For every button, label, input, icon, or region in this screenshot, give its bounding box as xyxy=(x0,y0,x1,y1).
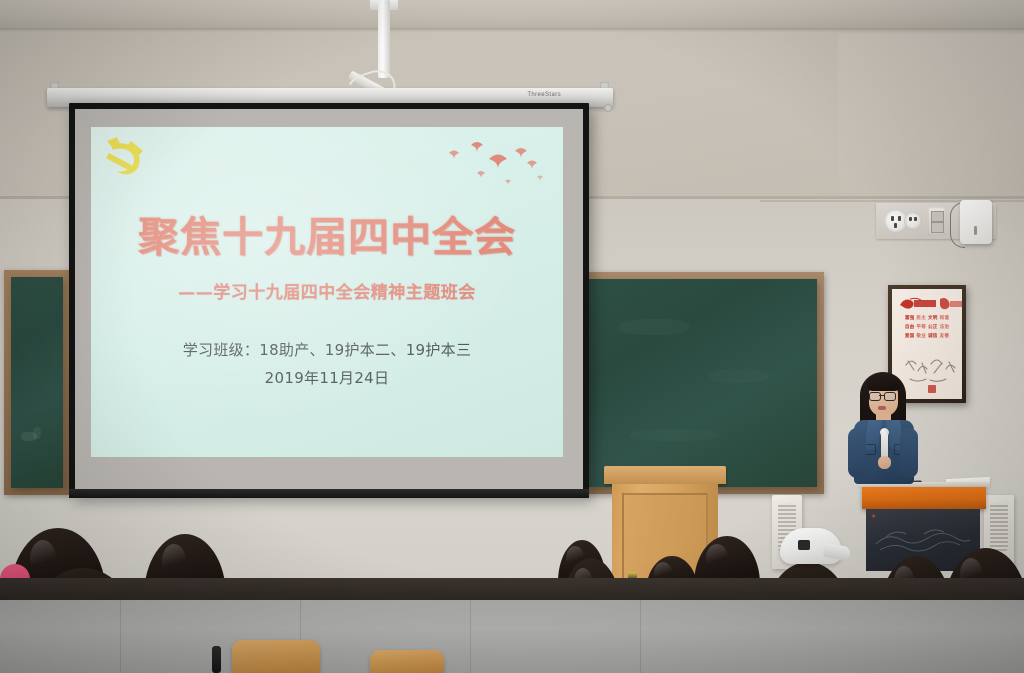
wooden-lectern-top xyxy=(604,466,726,484)
presenter-mouth xyxy=(878,406,886,410)
presenter-fringe xyxy=(867,376,900,391)
poster-values-row: 富强 民主 文明 和谐 xyxy=(896,315,958,321)
slide-title: 聚焦十九届四中全会 xyxy=(91,203,563,263)
slide-class-list: 学习班级：18助产、19护本二、19护本三 xyxy=(91,339,563,360)
poster-value: 敬业 xyxy=(916,333,926,339)
glasses-icon xyxy=(869,392,881,401)
speaker-grille-icon xyxy=(990,503,1008,551)
poster-value: 爱国 xyxy=(905,333,915,339)
student-presenter xyxy=(836,370,932,505)
poster-value: 和谐 xyxy=(940,315,950,321)
poster-value: 文明 xyxy=(928,315,938,321)
projection-screen-surface: 聚焦十九届四中全会 ——学习十九届四中全会精神主题班会 学习班级：18助产、19… xyxy=(75,109,583,489)
projection-screen: 聚焦十九届四中全会 ——学习十九届四中全会精神主题班会 学习班级：18助产、19… xyxy=(69,103,589,495)
wall-mounted-device[interactable] xyxy=(960,200,992,244)
desk-front-artwork-icon xyxy=(872,522,974,558)
poster-values-row: 爱国 敬业 诚信 友善 xyxy=(896,333,958,339)
slide-subtitle: ——学习十九届四中全会精神主题班会 xyxy=(91,278,563,303)
chalkboard-left-panel xyxy=(4,270,70,495)
chalkboard-right-surface xyxy=(589,279,817,487)
poster-heading-logo-icon xyxy=(898,296,962,311)
power-socket-secondary[interactable] xyxy=(904,212,922,230)
floor xyxy=(0,600,1024,673)
flying-birds-decoration xyxy=(443,137,553,197)
poster-values-block: 富强 民主 文明 和谐 自由 平等 公正 法治 爱国 敬业 诚信 友善 xyxy=(896,315,958,342)
device-indicator-icon xyxy=(974,226,977,235)
presenter-arm-right xyxy=(900,428,918,478)
projector-arm xyxy=(378,0,390,78)
light-switch[interactable] xyxy=(928,207,945,235)
poster-value: 公正 xyxy=(928,324,938,330)
poster-values-row: 自由 平等 公正 法治 xyxy=(896,324,958,330)
wall-right-panel xyxy=(838,34,1024,202)
ceiling xyxy=(0,0,1024,30)
screen-brand-label: ThreeStars xyxy=(527,92,561,98)
presenter-arm-left xyxy=(848,428,866,478)
cap-logo-icon xyxy=(798,540,810,550)
poster-value: 平等 xyxy=(916,324,926,330)
classroom-scene: ThreeStars xyxy=(0,0,1024,673)
chalkboard-right-panel xyxy=(582,272,824,494)
desk-logo-icon: ★ xyxy=(871,513,876,520)
slide-date: 2019年11月24日 xyxy=(91,367,563,388)
projection-screen-weight-bar xyxy=(69,489,589,498)
baseboard xyxy=(0,578,1024,602)
poster-value: 法治 xyxy=(940,324,950,330)
presenter-hand xyxy=(878,456,891,469)
glasses-bridge-icon xyxy=(879,395,884,396)
cpc-hammer-sickle-emblem xyxy=(101,135,149,181)
poster-value: 友善 xyxy=(940,333,950,339)
chalkboard-left-surface xyxy=(11,277,63,488)
poster-value: 富强 xyxy=(905,315,915,321)
screen-pull-knob[interactable] xyxy=(604,104,612,112)
poster-value: 民主 xyxy=(916,315,926,321)
poster-value: 诚信 xyxy=(928,333,938,339)
poster-value: 自由 xyxy=(905,324,915,330)
glasses-icon xyxy=(884,392,896,401)
presentation-slide: 聚焦十九届四中全会 ——学习十九届四中全会精神主题班会 学习班级：18助产、19… xyxy=(91,127,563,457)
